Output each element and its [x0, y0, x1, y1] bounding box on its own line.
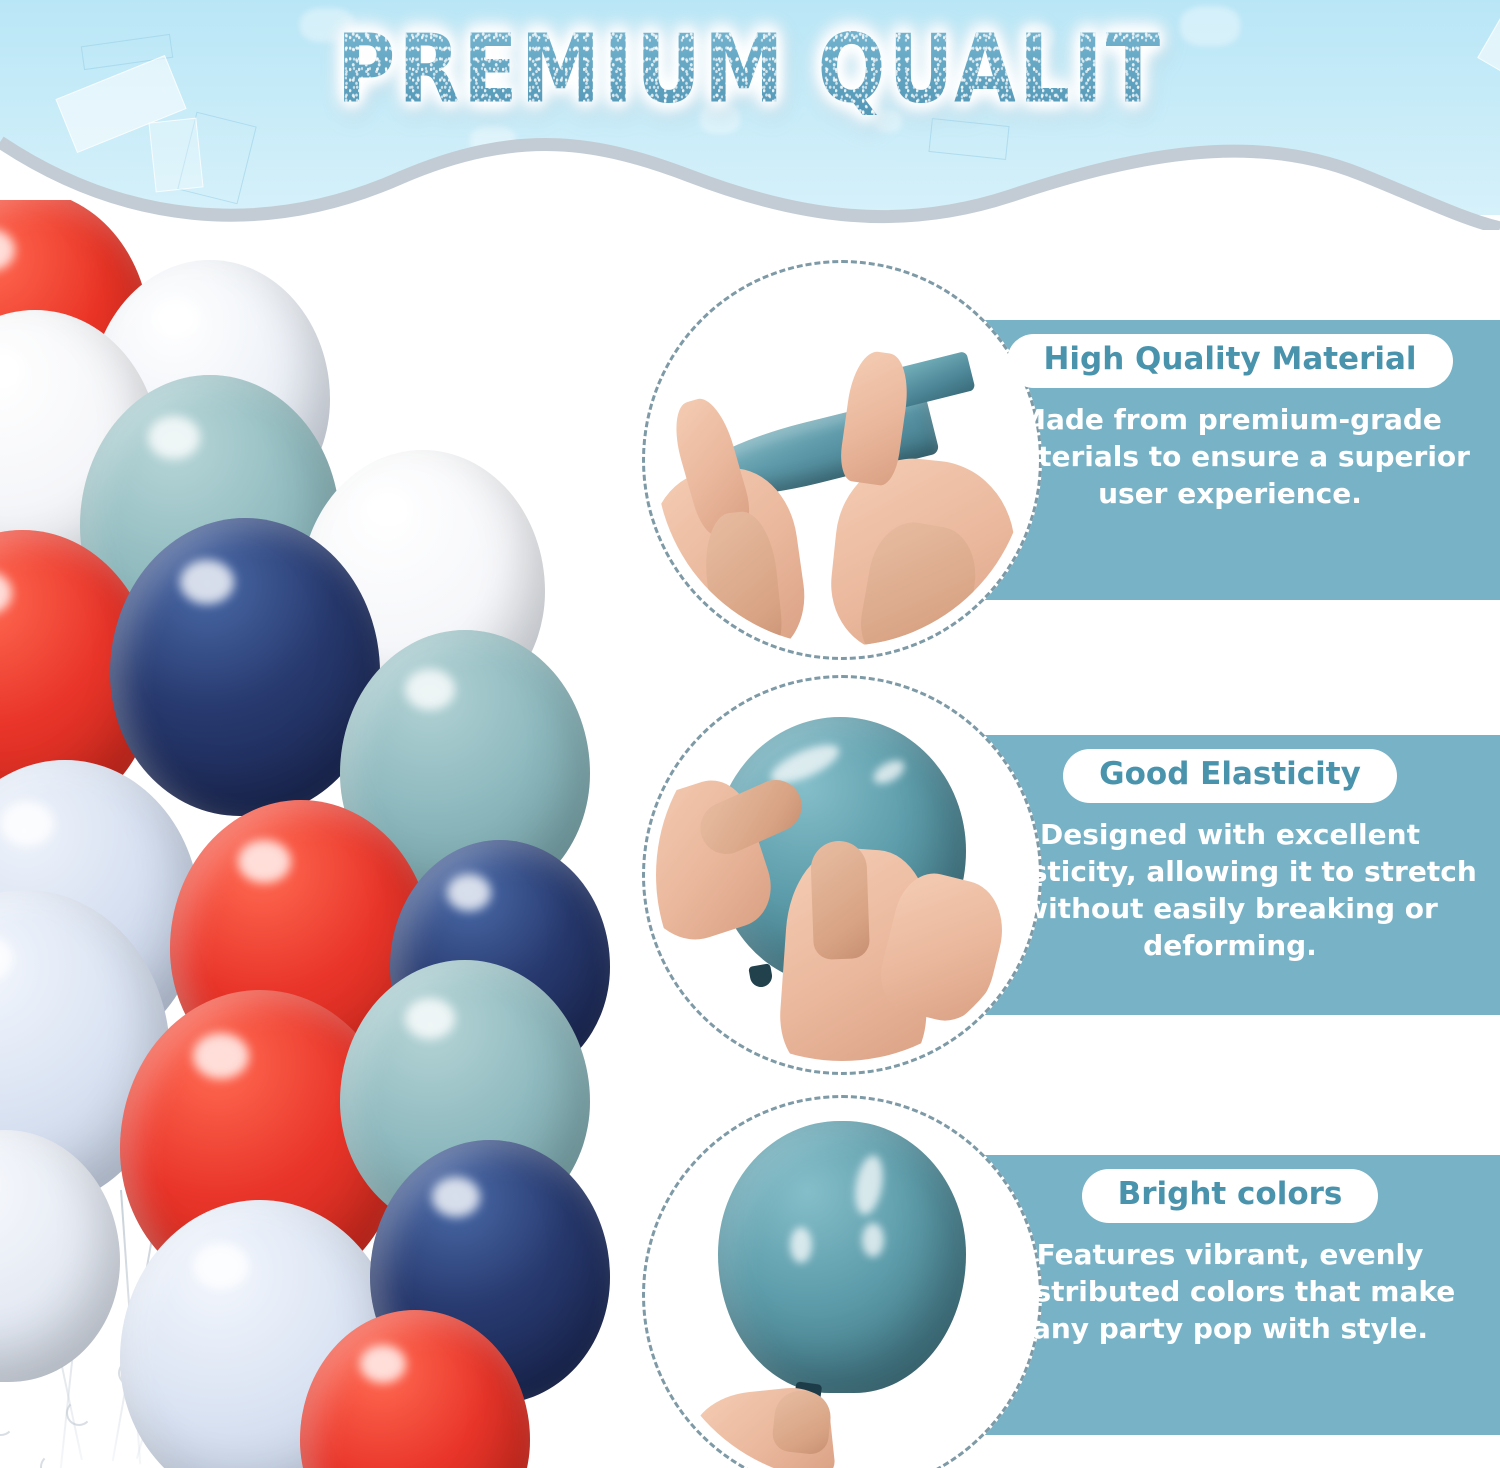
right-index-finger: [810, 840, 870, 960]
feature-description: Features vibrant, evenly distributed col…: [970, 1237, 1490, 1348]
ribbon-curl: [0, 1410, 14, 1436]
feature-title-pill: Bright colors: [1082, 1169, 1379, 1223]
feature-description: Designed with excellent elasticity, allo…: [970, 817, 1490, 965]
feature-title-pill: High Quality Material: [1007, 334, 1452, 388]
balloon-cluster-photo: [0, 200, 610, 1468]
page-title: PREMIUM QUALIT: [0, 14, 1500, 107]
confetti-shape: [148, 118, 203, 193]
feature-block-good-elasticity: Good Elasticity Designed with excellent …: [630, 665, 1500, 1085]
balloon-latex: [718, 1121, 966, 1393]
balloon-knot: [748, 963, 773, 988]
infographic-page: PREMIUM QUALIT: [0, 0, 1500, 1468]
feature-description: Made from premium-grade materials to ens…: [970, 402, 1490, 513]
feature-title-pill: Good Elasticity: [1063, 749, 1397, 803]
feature-block-high-quality-material: High Quality Material Made from premium-…: [630, 250, 1500, 670]
feature-text-group: Good Elasticity Designed with excellent …: [970, 749, 1490, 965]
balloon-highlight: [862, 1223, 884, 1257]
confetti-shape: [470, 126, 516, 156]
page-title-text: PREMIUM QUALIT: [331, 14, 1169, 124]
confetti-shape: [928, 118, 1009, 160]
balloon-highlight: [790, 1227, 812, 1263]
ribbon-curl: [66, 1400, 92, 1426]
finger: [771, 1388, 833, 1456]
feature-text-group: High Quality Material Made from premium-…: [970, 334, 1490, 513]
feature-block-bright-colors: Bright colors Features vibrant, evenly d…: [630, 1085, 1500, 1468]
feature-text-group: Bright colors Features vibrant, evenly d…: [970, 1169, 1490, 1348]
